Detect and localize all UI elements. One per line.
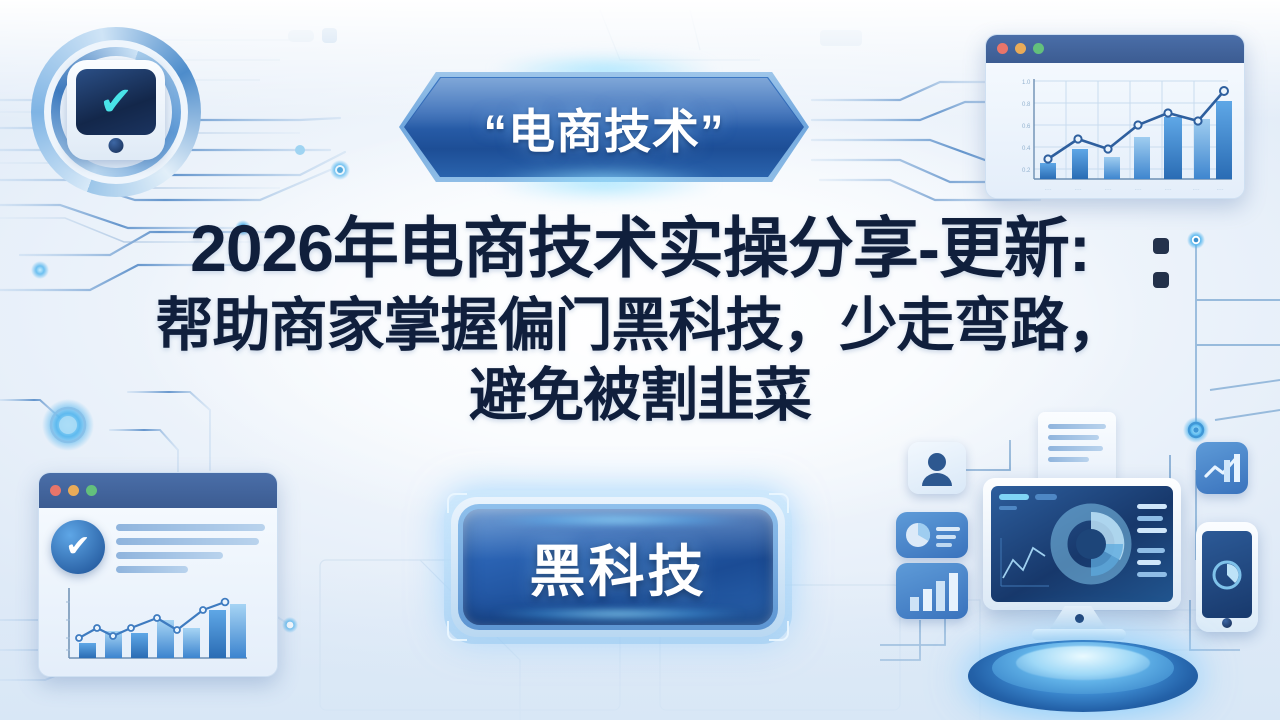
device-screen: ✔	[76, 69, 156, 135]
window-titlebar	[986, 35, 1244, 63]
headline-line-2: 帮助商家掌握偏门黑科技，少走弯路，	[0, 297, 1280, 355]
maximize-icon[interactable]	[86, 485, 97, 496]
cta-label: 黑科技	[451, 497, 785, 637]
svg-text:0.8: 0.8	[1022, 102, 1031, 108]
monitor-power-led	[1075, 614, 1084, 623]
svg-text:····: ····	[1164, 187, 1171, 193]
dashboard-donut-chart	[991, 486, 1173, 602]
device-home-button	[109, 138, 124, 153]
chart-check-tile	[1196, 442, 1248, 494]
bar-line-chart: 1.00.8 0.60.4 0.2 ········ ········ ····…	[986, 63, 1245, 199]
desktop-monitor	[983, 478, 1181, 610]
bar-chart-tile	[896, 563, 968, 619]
close-icon[interactable]	[50, 485, 61, 496]
skeleton-line	[116, 524, 265, 531]
chart-check-icon	[1196, 442, 1248, 494]
text-skeleton-group	[116, 520, 265, 573]
dashboard-browser-card: ✔	[38, 472, 278, 677]
pie-chart-tile	[896, 512, 968, 558]
cta-corner-bottom-right	[769, 621, 789, 641]
headline-block: 2026年电商技术实操分享-更新: 帮助商家掌握偏门黑科技，少走弯路， 避免被割…	[0, 215, 1280, 425]
minimize-icon[interactable]	[68, 485, 79, 496]
cta-corner-top-right	[769, 493, 789, 513]
svg-text:····: ····	[1192, 187, 1199, 193]
headline-line-1: 2026年电商技术实操分享-更新:	[0, 215, 1280, 281]
svg-text:····: ····	[1074, 187, 1081, 193]
svg-text:····: ····	[1104, 187, 1111, 193]
skeleton-line	[116, 552, 223, 559]
smartphone-analytics	[1196, 522, 1258, 632]
bar-icon	[896, 563, 968, 619]
doc-line	[1048, 457, 1089, 462]
poster-canvas: ✔	[0, 0, 1280, 720]
skeleton-line	[116, 538, 259, 545]
svg-text:····: ····	[1044, 187, 1051, 193]
svg-text:0.2: 0.2	[1022, 168, 1031, 174]
phone-home-button	[1222, 618, 1232, 628]
window-body: ✔	[39, 508, 277, 677]
monitor-screen	[991, 486, 1173, 602]
pie-icon	[896, 512, 968, 558]
cta-corner-bottom-left	[447, 621, 467, 641]
window-body: 1.00.8 0.60.4 0.2 ········ ········ ····…	[986, 63, 1244, 198]
verified-check-badge: ✔	[51, 520, 105, 574]
cta-corner-top-left	[447, 493, 467, 513]
close-icon[interactable]	[997, 43, 1008, 54]
badge-glow-bottom	[489, 166, 719, 200]
podium-base-inner	[1016, 646, 1150, 680]
bar-line-chart	[39, 580, 278, 672]
device-body: ✔	[67, 60, 165, 160]
category-badge[interactable]: “电商技术”	[399, 72, 809, 182]
user-icon	[908, 442, 966, 494]
phone-screen	[1202, 531, 1252, 618]
svg-text:····: ····	[1134, 187, 1141, 193]
window-titlebar	[39, 473, 277, 508]
cta-button[interactable]: 黑科技	[451, 497, 785, 637]
check-glyph: ✔	[99, 82, 133, 122]
user-avatar-tile	[908, 442, 966, 494]
skeleton-line	[116, 566, 188, 573]
svg-text:0.4: 0.4	[1022, 146, 1031, 152]
phone-donut-icon	[1205, 545, 1249, 605]
svg-text:····: ····	[1216, 187, 1223, 193]
maximize-icon[interactable]	[1033, 43, 1044, 54]
doc-line	[1048, 446, 1103, 451]
analytics-browser-window: 1.00.8 0.60.4 0.2 ········ ········ ····…	[985, 34, 1245, 199]
check-glyph: ✔	[65, 532, 90, 562]
tablet-check-icon: ✔	[31, 27, 201, 197]
monitor-base	[1032, 629, 1126, 640]
minimize-icon[interactable]	[1015, 43, 1026, 54]
headline-line-3: 避免被割韭菜	[0, 367, 1280, 425]
doc-line	[1048, 435, 1099, 440]
svg-text:1.0: 1.0	[1022, 80, 1031, 86]
device-cluster	[880, 400, 1280, 720]
svg-text:0.6: 0.6	[1022, 124, 1031, 130]
